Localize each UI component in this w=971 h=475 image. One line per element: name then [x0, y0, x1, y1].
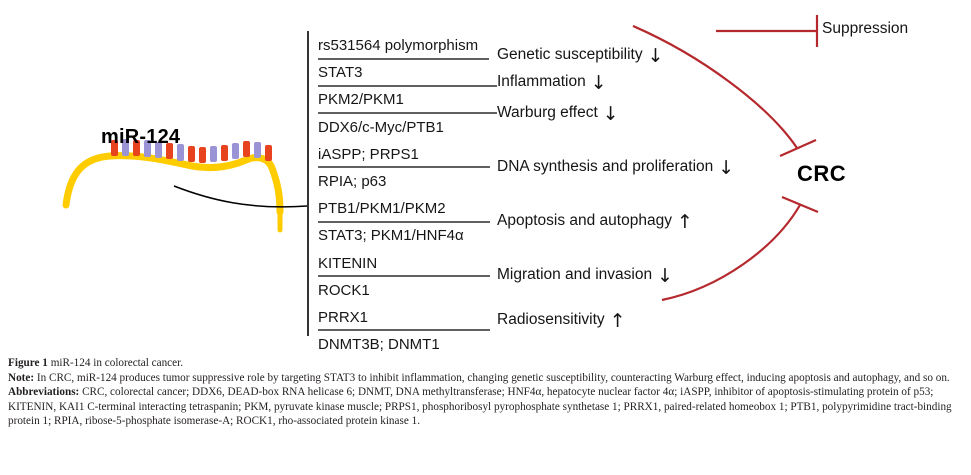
phenotype-label: Apoptosis and autophagy	[497, 212, 672, 230]
gene-row: iASPP; PRPS1	[318, 141, 498, 168]
phenotype-row: Inflammation ↓	[497, 72, 607, 91]
phenotype-label: Radiosensitivity	[497, 311, 605, 329]
caption-note-line: Note: In CRC, miR-124 produces tumor sup…	[8, 371, 966, 386]
caption-title-line: Figure 1 miR-124 in colorectal cancer.	[8, 356, 966, 371]
up-arrow-icon: ↑	[677, 213, 693, 232]
down-arrow-icon: ↓	[591, 74, 607, 93]
phenotype-label: Inflammation	[497, 73, 586, 91]
gene-row: STAT3; PKM1/HNF4α	[318, 222, 498, 249]
phenotype-row: Genetic susceptibility ↓	[497, 45, 664, 64]
down-arrow-icon: ↓	[657, 267, 673, 286]
down-arrow-icon: ↓	[718, 159, 734, 178]
phenotype-row: Radiosensitivity ↑	[497, 310, 626, 329]
gene-row: ROCK1	[318, 277, 498, 304]
mirna-illustration	[66, 139, 280, 230]
suppression-legend-symbol	[716, 15, 817, 47]
abbreviations-label: Abbreviations:	[8, 386, 79, 398]
gene-row: RPIA; p63	[318, 168, 498, 195]
figure-caption: Figure 1 miR-124 in colorectal cancer. N…	[8, 356, 966, 429]
figure-number: Figure 1	[8, 357, 48, 369]
gene-row: DDX6/c-Myc/PTB1	[318, 114, 498, 141]
up-arrow-icon: ↑	[610, 312, 626, 331]
figure-diagram: miR-124 rs531564 polymorphism STAT3 PKM2…	[0, 0, 971, 348]
suppression-arc-upper-bar	[780, 140, 816, 156]
gene-row: KITENIN	[318, 250, 498, 277]
note-text: In CRC, miR-124 produces tumor suppressi…	[37, 372, 950, 384]
phenotype-row: DNA synthesis and proliferation ↓	[497, 157, 734, 176]
phenotype-row: Migration and invasion ↓	[497, 265, 673, 284]
phenotype-label: Genetic susceptibility	[497, 46, 643, 64]
gene-row: PKM2/PKM1	[318, 86, 498, 113]
suppression-legend-label: Suppression	[822, 20, 908, 38]
suppression-arc-lower-bar	[782, 197, 818, 212]
gene-row: PTB1/PKM1/PKM2	[318, 195, 498, 222]
crc-node-label: CRC	[797, 161, 846, 187]
mirna-to-genes-connector	[174, 186, 307, 207]
abbreviations-text: CRC, colorectal cancer; DDX6, DEAD-box R…	[8, 386, 952, 427]
gene-target-list: rs531564 polymorphism STAT3 PKM2/PKM1 DD…	[318, 32, 498, 358]
gene-row: DNMT3B; DNMT1	[318, 331, 498, 358]
caption-abbreviations-line: Abbreviations: CRC, colorectal cancer; D…	[8, 385, 966, 429]
phenotype-row: Warburg effect ↓	[497, 103, 619, 122]
gene-row: rs531564 polymorphism	[318, 32, 498, 59]
mirna-label: miR-124	[101, 126, 180, 149]
gene-row: PRRX1	[318, 304, 498, 331]
down-arrow-icon: ↓	[603, 105, 619, 124]
gene-row: STAT3	[318, 59, 498, 86]
down-arrow-icon: ↓	[648, 47, 664, 66]
note-label: Note:	[8, 372, 34, 384]
phenotype-label: Warburg effect	[497, 104, 598, 122]
phenotype-label: Migration and invasion	[497, 266, 652, 284]
figure-title: miR-124 in colorectal cancer.	[51, 357, 183, 369]
phenotype-row: Apoptosis and autophagy ↑	[497, 211, 693, 230]
mirna-backbone	[66, 156, 280, 212]
phenotype-label: DNA synthesis and proliferation	[497, 158, 713, 176]
